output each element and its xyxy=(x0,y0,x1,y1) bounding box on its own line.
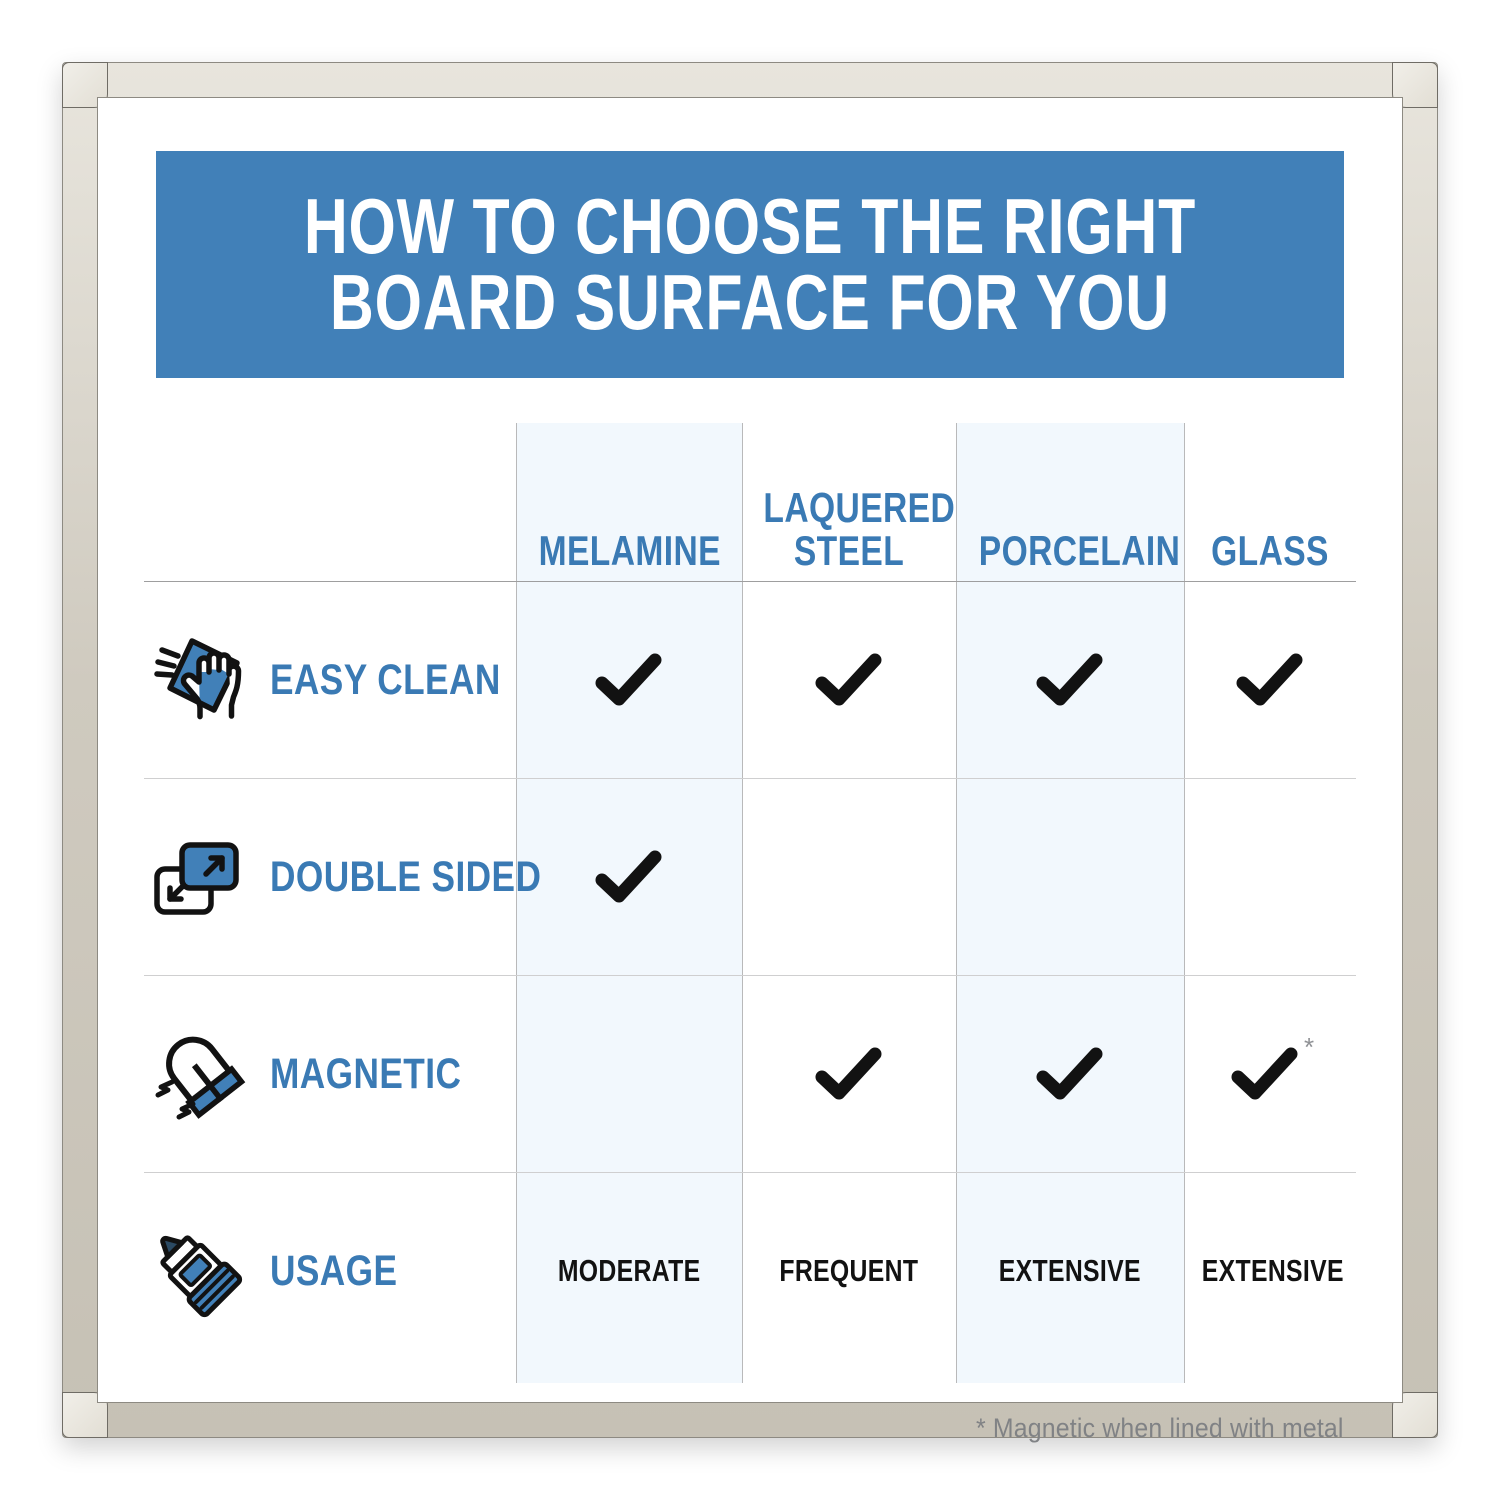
title-banner: HOW TO CHOOSE THE RIGHT BOARD SURFACE FO… xyxy=(156,151,1344,378)
footnote-text: * Magnetic when lined with metal xyxy=(976,1413,1344,1444)
horseshoe-magnet-icon xyxy=(144,1022,248,1126)
column-header-label: LAQUERED STEEL xyxy=(763,487,934,573)
checkmark-icon xyxy=(1228,1044,1302,1104)
table-header-row: MELAMINE LAQUERED STEEL PORCELAIN GLASS xyxy=(144,423,1356,582)
poster-canvas: HOW TO CHOOSE THE RIGHT BOARD SURFACE FO… xyxy=(0,0,1500,1500)
cell-double-sided-melamine xyxy=(516,779,742,976)
column-header-label: MELAMINE xyxy=(539,530,720,573)
cell-easy-clean-glass xyxy=(1184,582,1356,779)
cell-double-sided-glass xyxy=(1184,779,1356,976)
row-label: DOUBLE SIDED xyxy=(270,853,541,902)
table-row: MAGNETIC xyxy=(144,976,1356,1173)
table-corner-cell xyxy=(144,423,516,582)
row-label: USAGE xyxy=(270,1247,397,1296)
magnetic-footnote-marker: * xyxy=(1304,1032,1314,1062)
page-title: HOW TO CHOOSE THE RIGHT BOARD SURFACE FO… xyxy=(304,189,1196,340)
table-row: DOUBLE SIDED xyxy=(144,779,1356,976)
checkmark-icon xyxy=(1233,650,1307,710)
cell-usage-glass: EXTENSIVE xyxy=(1184,1173,1356,1370)
row-label-cell-magnetic: MAGNETIC xyxy=(144,976,516,1173)
cell-magnetic-porcelain xyxy=(956,976,1184,1173)
row-label: EASY CLEAN xyxy=(270,656,501,705)
table-row: EASY CLEAN xyxy=(144,582,1356,779)
column-header-label: PORCELAIN xyxy=(979,530,1161,573)
cell-easy-clean-laquered-steel xyxy=(742,582,956,779)
cell-magnetic-melamine xyxy=(516,976,742,1173)
row-label: MAGNETIC xyxy=(270,1050,461,1099)
cell-usage-porcelain: EXTENSIVE xyxy=(956,1173,1184,1370)
whiteboard-surface: HOW TO CHOOSE THE RIGHT BOARD SURFACE FO… xyxy=(97,97,1403,1403)
column-header-porcelain: PORCELAIN xyxy=(956,423,1184,582)
checkmark-icon xyxy=(812,650,886,710)
column-header-melamine: MELAMINE xyxy=(516,423,742,582)
cell-magnetic-laquered-steel xyxy=(742,976,956,1173)
usage-value: EXTENSIVE xyxy=(1202,1253,1344,1289)
wipe-cloth-hand-icon xyxy=(144,628,248,732)
table-row: USAGE MODERATE FREQUENT E xyxy=(144,1173,1356,1370)
cell-double-sided-porcelain xyxy=(956,779,1184,976)
column-header-label: GLASS xyxy=(1201,530,1339,573)
cell-double-sided-laquered-steel xyxy=(742,779,956,976)
cell-usage-laquered-steel: FREQUENT xyxy=(742,1173,956,1370)
usage-value: EXTENSIVE xyxy=(999,1253,1141,1289)
cell-magnetic-glass: * xyxy=(1184,976,1356,1173)
cell-usage-melamine: MODERATE xyxy=(516,1173,742,1370)
usage-value: FREQUENT xyxy=(780,1253,919,1289)
infographic-content: HOW TO CHOOSE THE RIGHT BOARD SURFACE FO… xyxy=(98,98,1402,1402)
column-header-glass: GLASS xyxy=(1184,423,1356,582)
usage-value: MODERATE xyxy=(558,1253,701,1289)
whiteboard-frame: HOW TO CHOOSE THE RIGHT BOARD SURFACE FO… xyxy=(62,62,1438,1438)
row-label-cell-usage: USAGE xyxy=(144,1173,516,1370)
checkmark-icon xyxy=(592,847,666,907)
column-header-laquered-steel: LAQUERED STEEL xyxy=(742,423,956,582)
marker-pen-icon xyxy=(144,1219,248,1323)
checkmark-icon xyxy=(1033,650,1107,710)
cell-easy-clean-porcelain xyxy=(956,582,1184,779)
comparison-table: MELAMINE LAQUERED STEEL PORCELAIN GLASS xyxy=(144,423,1356,1369)
checkmark-icon xyxy=(1033,1044,1107,1104)
checkmark-icon xyxy=(592,650,666,710)
cell-easy-clean-melamine xyxy=(516,582,742,779)
checkmark-icon xyxy=(812,1044,886,1104)
row-label-cell-easy-clean: EASY CLEAN xyxy=(144,582,516,779)
comparison-table-wrapper: MELAMINE LAQUERED STEEL PORCELAIN GLASS xyxy=(144,423,1356,1383)
row-label-cell-double-sided: DOUBLE SIDED xyxy=(144,779,516,976)
double-sided-panels-icon xyxy=(144,825,248,929)
